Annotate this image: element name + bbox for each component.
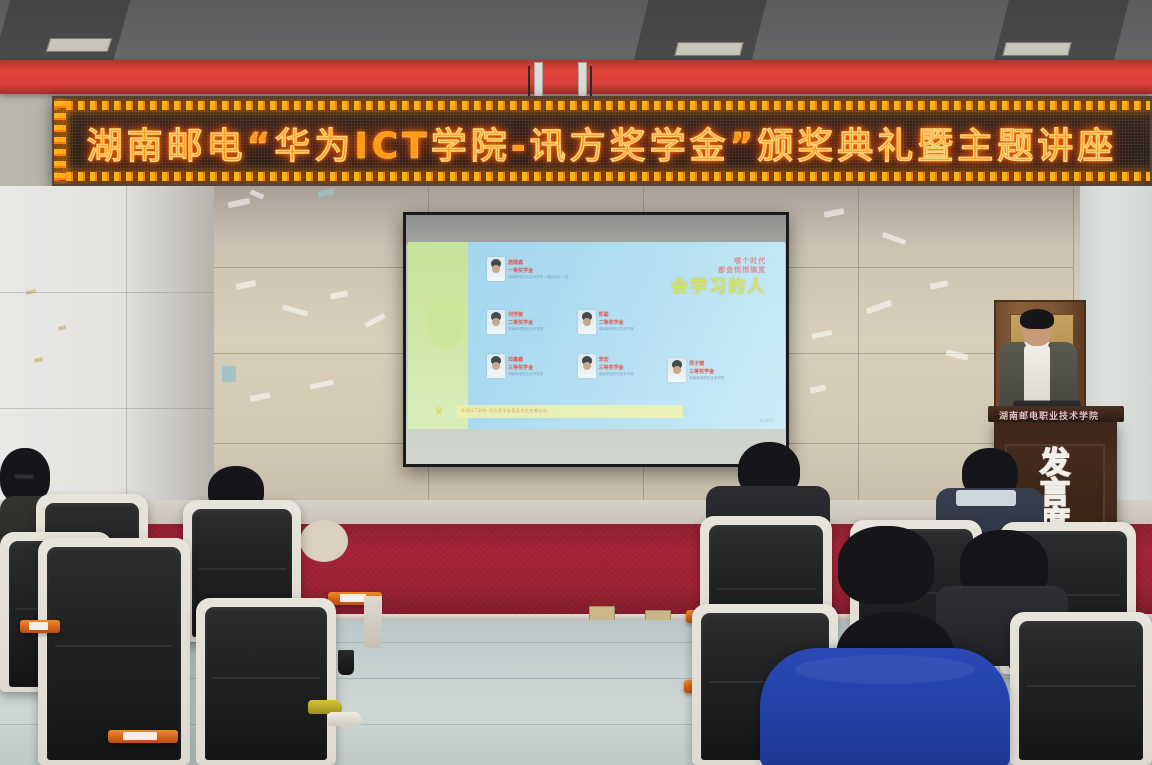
awardee-name: 彭聪: [599, 311, 634, 318]
slide-brand-mark: 华为ICT: [759, 418, 773, 424]
led-banner: 湖南邮电“华为ICT学院-讯方奖学金”颁奖典礼暨主题讲座: [52, 96, 1152, 186]
awardee-photo: [668, 358, 686, 382]
led-border-dots-top: [54, 101, 1150, 110]
slide-footer-note: 华为ICT学院-讯方奖学金获奖学生名单公示: [461, 408, 547, 414]
seat-armrest[interactable]: [20, 620, 60, 633]
awardee-photo: [487, 310, 505, 334]
led-border-dots-bottom: [54, 172, 1150, 181]
slide-sidebar-graphic: [408, 242, 468, 429]
screen-surface: 哪个时代 都会悄悄犒赏 会学习的人 唐顺鑫 一等奖学金 湖南邮电职业技术学院 /…: [406, 215, 786, 464]
ceiling-vent-left: [46, 38, 113, 52]
awardee-name: 唐顺鑫: [508, 259, 568, 266]
awardee-rank: 三等奖学金: [508, 364, 543, 371]
audience-blue-jacket: [760, 648, 1010, 765]
awardee-name: 邓鑫鑫: [508, 356, 543, 363]
auditorium-scene: 湖南邮电“华为ICT学院-讯方奖学金”颁奖典礼暨主题讲座: [0, 0, 1152, 765]
podium-char-2: 言: [1040, 480, 1070, 509]
auditorium-seat[interactable]: [196, 598, 336, 765]
awardee-photo: [578, 354, 596, 378]
awardee-school: 湖南邮电职业技术学院: [599, 327, 634, 332]
awardee-entry: 彭聪 二等奖学金 湖南邮电职业技术学院: [578, 310, 634, 334]
awardee-rank: 三等奖学金: [689, 368, 724, 375]
awardee-photo: [487, 257, 505, 281]
awardee-entry: 李宏 三等奖学金 湖南邮电职业技术学院: [578, 354, 634, 378]
awardee-name: 何芳敏: [508, 311, 543, 318]
awardee-school: 湖南邮电职业技术学院: [508, 372, 543, 377]
eyeglasses-icon: [14, 474, 34, 480]
headline-line-3: 会学习的人: [671, 277, 766, 298]
awardee-school: 湖南邮电职业技术学院: [599, 372, 634, 377]
podium-top-ledge: 湖南邮电职业技术学院: [988, 406, 1124, 422]
presentation-slide: 哪个时代 都会悄悄犒赏 会学习的人 唐顺鑫 一等奖学金 湖南邮电职业技术学院 /…: [408, 242, 785, 429]
ceiling-red-strip: [0, 60, 1152, 94]
audience-head: [300, 520, 348, 562]
awardee-rank: 一等奖学金: [508, 267, 568, 274]
awardee-photo: [487, 354, 505, 378]
headline-line-1: 哪个时代: [671, 257, 766, 266]
podium-nameplate: 湖南邮电职业技术学院: [988, 408, 1110, 423]
headline-line-2: 都会悄悄犒赏: [671, 266, 766, 275]
audience-head: [838, 526, 934, 604]
seat-side-panel: [364, 596, 382, 648]
awardee-photo: [578, 310, 596, 334]
audience-shoe: [328, 712, 362, 726]
auditorium-seat[interactable]: [1010, 612, 1152, 765]
awardee-name: 李宏: [599, 356, 634, 363]
awardee-name: 周子健: [689, 360, 724, 367]
seat-armrest[interactable]: [108, 730, 178, 743]
awardee-entry: 邓鑫鑫 三等奖学金 湖南邮电职业技术学院: [487, 354, 543, 378]
audience-collar: [956, 490, 1016, 506]
awardee-entry: 唐顺鑫 一等奖学金 湖南邮电职业技术学院 / 通信技术 1 班: [487, 257, 568, 281]
awardee-school: 湖南邮电职业技术学院 / 通信技术 1 班: [508, 275, 568, 280]
awardee-entry: 周子健 三等奖学金 湖南邮电职业技术学院: [668, 358, 724, 382]
awardee-rank: 二等奖学金: [508, 319, 543, 326]
crown-icon: ♛: [434, 407, 443, 417]
projection-screen: 哪个时代 都会悄悄犒赏 会学习的人 唐顺鑫 一等奖学金 湖南邮电职业技术学院 /…: [403, 212, 789, 467]
seat-cup-holder[interactable]: [338, 650, 354, 675]
awardee-school: 湖南邮电职业技术学院: [689, 376, 724, 381]
awardee-school: 湖南邮电职业技术学院: [508, 327, 543, 332]
slide-footer-bar: 华为ICT学院-讯方奖学金获奖学生名单公示: [457, 405, 683, 418]
led-banner-text: 湖南邮电“华为ICT学院-讯方奖学金”颁奖典礼暨主题讲座: [54, 114, 1150, 172]
slide-headline: 哪个时代 都会悄悄犒赏 会学习的人: [671, 257, 766, 298]
ceiling-vent-center: [674, 42, 743, 56]
podium-char-1: 发: [1040, 450, 1070, 479]
awardee-entry: 何芳敏 二等奖学金 湖南邮电职业技术学院: [487, 310, 543, 334]
awardee-rank: 三等奖学金: [599, 364, 634, 371]
ceiling-vent-right: [1002, 42, 1071, 56]
speaker-hair: [1020, 309, 1054, 329]
awardee-rank: 二等奖学金: [599, 319, 634, 326]
